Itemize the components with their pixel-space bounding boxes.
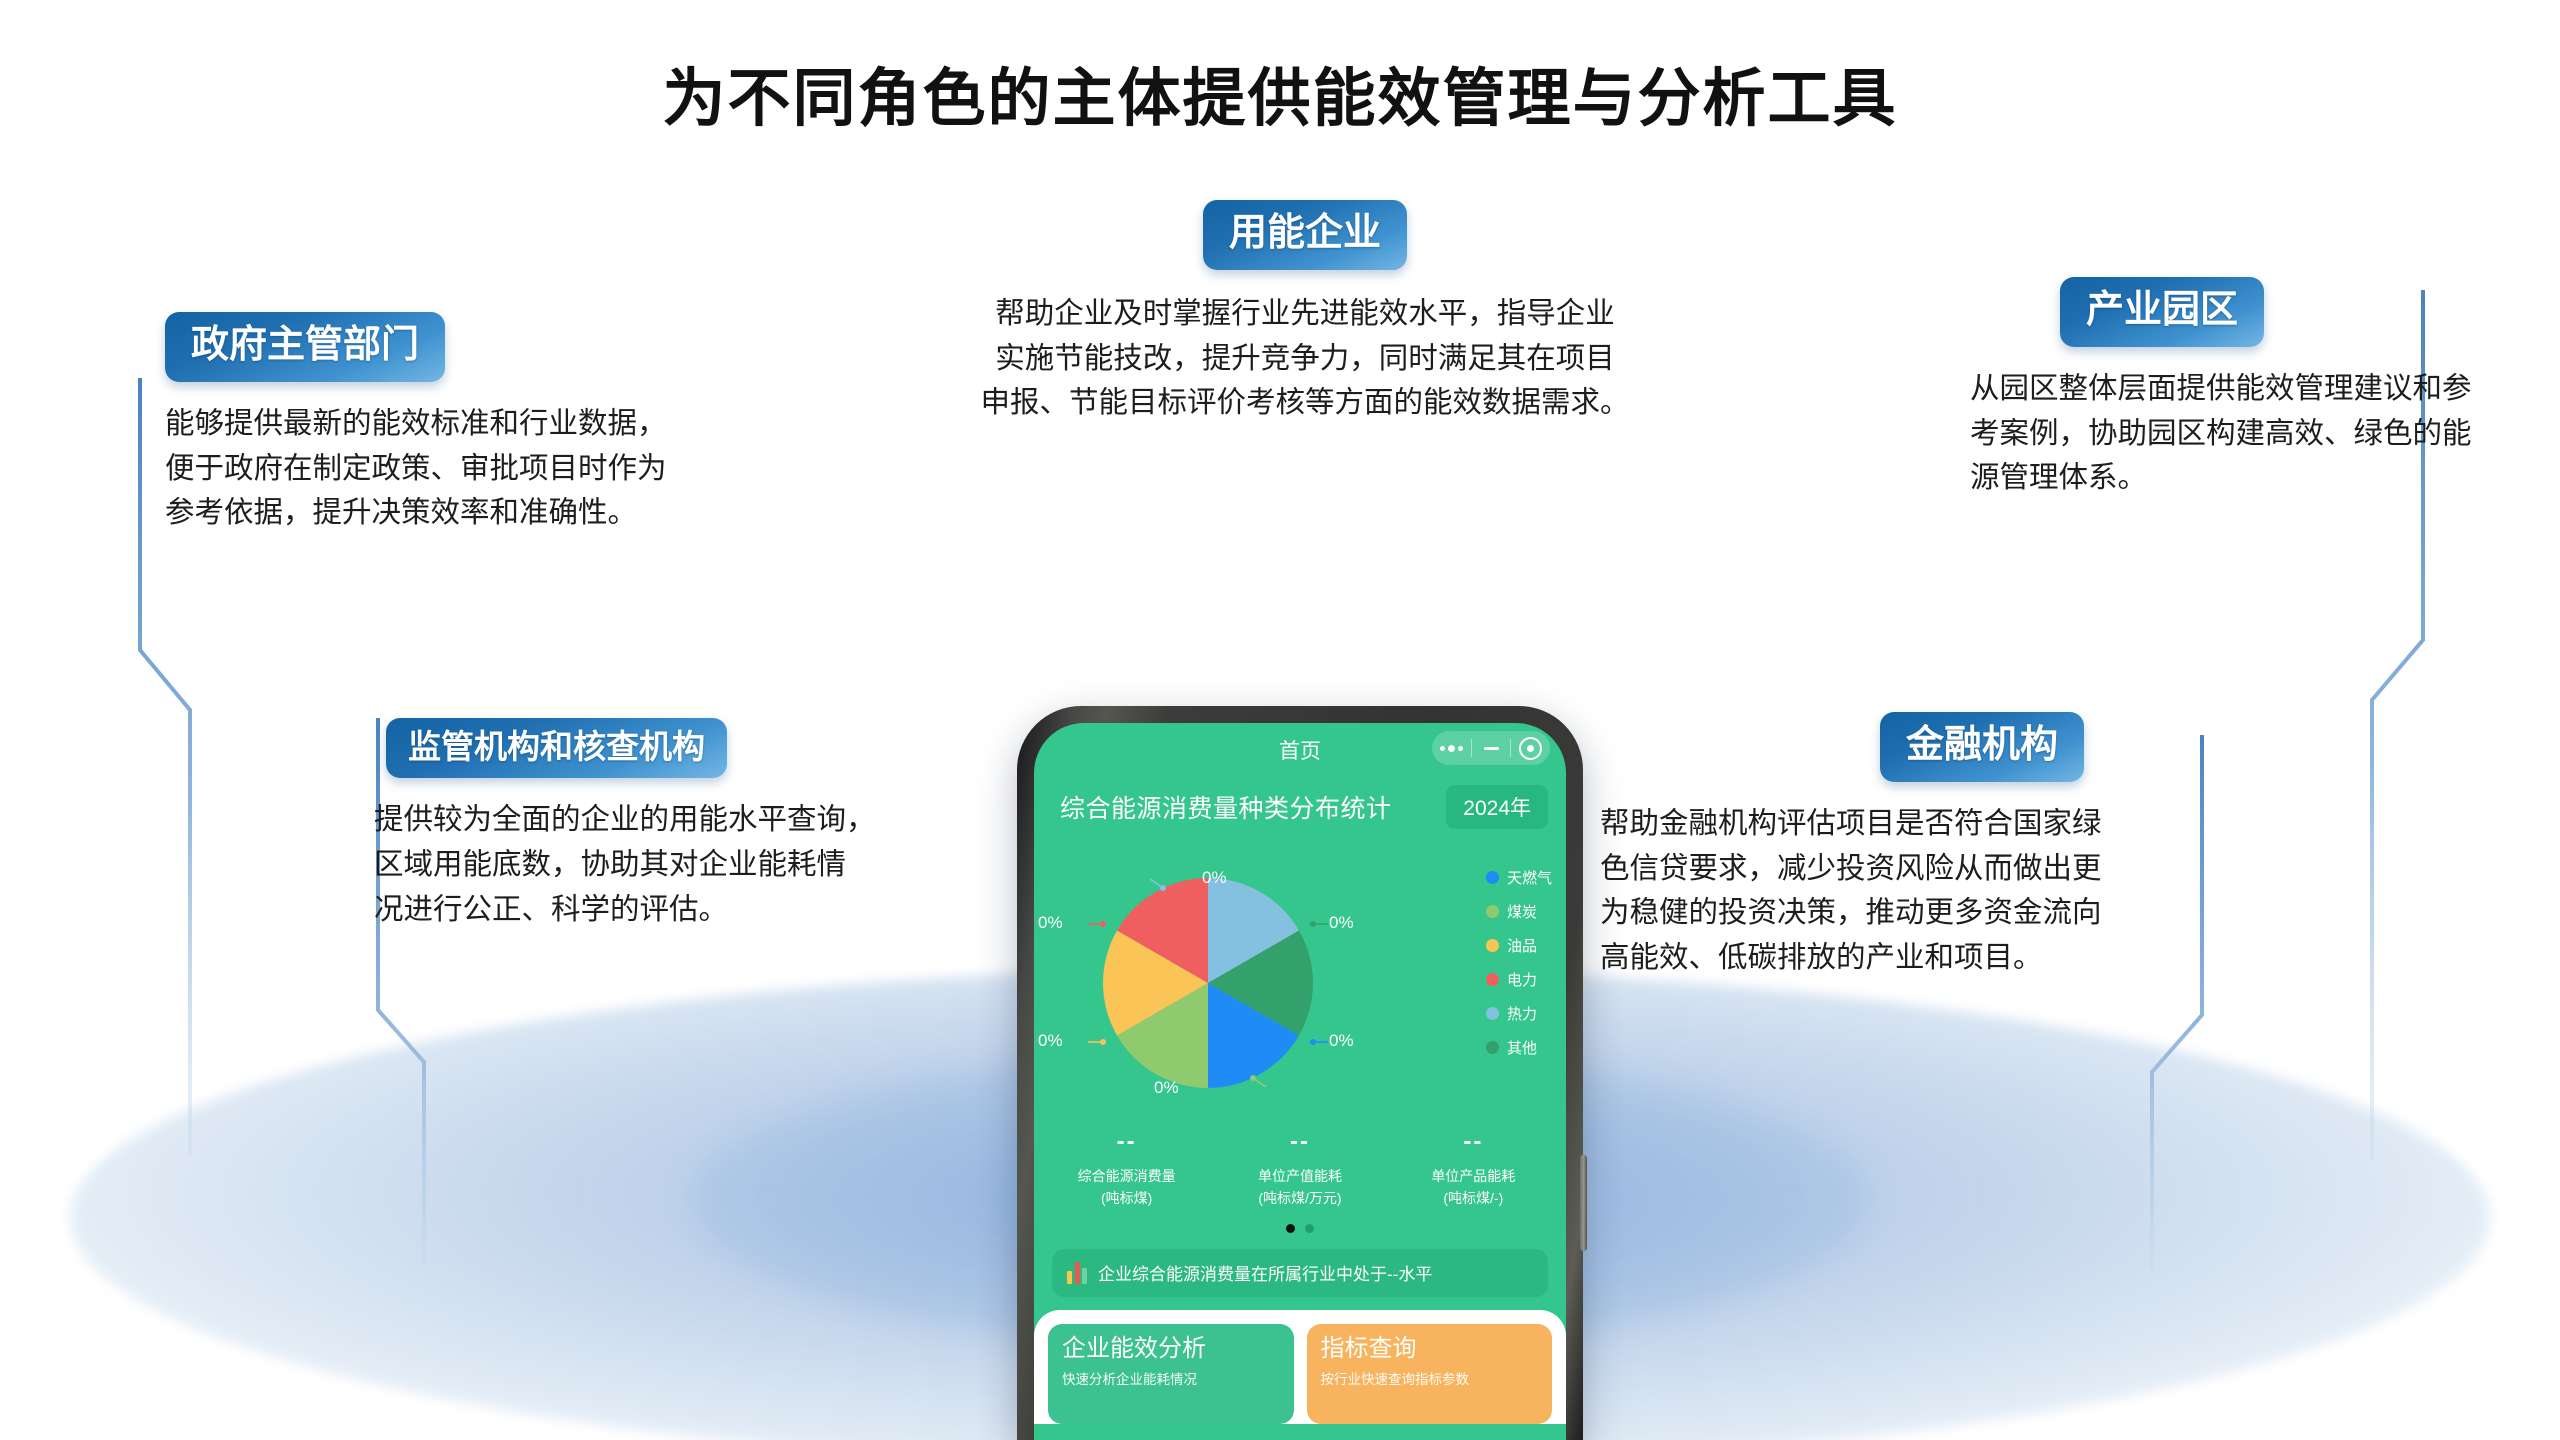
role-badge-finance[interactable]: 金融机构 bbox=[1880, 712, 2084, 782]
stat-label-unit: (吨标煤/万元) bbox=[1258, 1190, 1341, 1206]
stat-value: -- bbox=[1213, 1129, 1386, 1155]
bar-chart-icon bbox=[1067, 1262, 1087, 1284]
pager-dot[interactable] bbox=[1305, 1224, 1314, 1233]
pie-chart-section: 0% 0% 0% 0% 0% 0% 天燃气 煤炭 bbox=[1034, 833, 1566, 1123]
legend-item[interactable]: 煤炭 bbox=[1486, 901, 1552, 922]
industry-level-text: 企业综合能源消费量在所属行业中处于--水平 bbox=[1098, 1260, 1432, 1285]
pager-dot-active[interactable] bbox=[1286, 1224, 1295, 1233]
role-block-enterprise: 用能企业 帮助企业及时掌握行业先进能效水平，指导企业 实施节能技改，提升竞争力，… bbox=[910, 200, 1700, 426]
pie-label-meitan: 0% bbox=[1154, 1078, 1179, 1098]
stats-row: -- 综合能源消费量 (吨标煤) -- 单位产值能耗 (吨标煤/万元) -- bbox=[1034, 1123, 1566, 1210]
legend-label: 油品 bbox=[1507, 935, 1537, 956]
legend-color-dot bbox=[1486, 1041, 1499, 1054]
role-block-finance: 金融机构 帮助金融机构评估项目是否符合国家绿 色信贷要求，减少投资风险从而做出更… bbox=[1600, 712, 2260, 981]
phone-mockup: 首页 综合能源消费量种类分布统计 bbox=[1017, 706, 1583, 1440]
carousel-pager[interactable] bbox=[1034, 1224, 1566, 1233]
quick-card-title: 企业能效分析 bbox=[1062, 1335, 1280, 1363]
legend-label: 天燃气 bbox=[1507, 867, 1552, 888]
role-badge-government[interactable]: 政府主管部门 bbox=[165, 312, 445, 382]
legend-label: 热力 bbox=[1507, 1003, 1537, 1024]
role-desc-regulator: 提供较为全面的企业的用能水平查询， 区域用能底数，协助其对企业能耗情 况进行公正… bbox=[374, 798, 1026, 932]
stat-label-unit: (吨标煤) bbox=[1101, 1190, 1152, 1206]
stat-value: -- bbox=[1387, 1129, 1560, 1155]
pie-label-qita: 0% bbox=[1329, 913, 1354, 933]
legend-color-dot bbox=[1486, 939, 1499, 952]
quick-card-indicator-query[interactable]: 指标查询 按行业快速查询指标参数 bbox=[1307, 1324, 1553, 1424]
stat-label-text: 单位产品能耗 bbox=[1431, 1168, 1515, 1184]
legend-label: 电力 bbox=[1507, 969, 1537, 990]
legend-color-dot bbox=[1486, 871, 1499, 884]
stat-label: 单位产值能耗 (吨标煤/万元) bbox=[1213, 1166, 1386, 1209]
pie-label-youpin: 0% bbox=[1038, 1031, 1063, 1051]
minimize-dash-icon[interactable] bbox=[1472, 731, 1511, 765]
stat-value: -- bbox=[1040, 1129, 1213, 1155]
role-block-park: 产业园区 从园区整体层面提供能效管理建议和参 考案例，协助园区构建高效、绿色的能… bbox=[2020, 277, 2560, 501]
legend-color-dot bbox=[1486, 905, 1499, 918]
stat-item-product-energy: -- 单位产品能耗 (吨标煤/-) bbox=[1387, 1129, 1560, 1210]
chart-title: 综合能源消费量种类分布统计 bbox=[1060, 789, 1392, 825]
quick-card-subtitle: 按行业快速查询指标参数 bbox=[1321, 1368, 1539, 1388]
role-desc-finance: 帮助金融机构评估项目是否符合国家绿 色信贷要求，减少投资风险从而做出更 为稳健的… bbox=[1600, 802, 2260, 981]
legend-item[interactable]: 热力 bbox=[1486, 1003, 1552, 1024]
quick-card-subtitle: 快速分析企业能耗情况 bbox=[1062, 1368, 1280, 1388]
quick-actions-sheet: 企业能效分析 快速分析企业能耗情况 指标查询 按行业快速查询指标参数 bbox=[1034, 1310, 1566, 1424]
role-badge-enterprise[interactable]: 用能企业 bbox=[1203, 200, 1407, 270]
stat-item-total-energy: -- 综合能源消费量 (吨标煤) bbox=[1040, 1129, 1213, 1210]
legend-item[interactable]: 油品 bbox=[1486, 935, 1552, 956]
pie-label-dianli: 0% bbox=[1038, 913, 1063, 933]
more-dots-icon[interactable] bbox=[1432, 731, 1471, 765]
legend-item[interactable]: 电力 bbox=[1486, 969, 1552, 990]
chart-header: 综合能源消费量种类分布统计 2024年 bbox=[1034, 773, 1566, 829]
stat-item-output-energy: -- 单位产值能耗 (吨标煤/万元) bbox=[1213, 1129, 1386, 1210]
role-desc-government: 能够提供最新的能效标准和行业数据， 便于政府在制定政策、审批项目时作为 参考依据… bbox=[165, 402, 765, 536]
infographic-stage: 为不同角色的主体提供能效管理与分析工具 政府主管部门 能够提供最新的能效标准和行… bbox=[0, 0, 2560, 1440]
quick-card-title: 指标查询 bbox=[1321, 1335, 1539, 1363]
stat-label-text: 综合能源消费量 bbox=[1078, 1168, 1176, 1184]
app-nav-bar: 首页 bbox=[1034, 723, 1566, 773]
target-circle-icon[interactable] bbox=[1511, 731, 1550, 765]
phone-side-button[interactable] bbox=[1580, 1155, 1587, 1251]
pie-legend: 天燃气 煤炭 油品 电力 bbox=[1486, 867, 1552, 1058]
role-block-government: 政府主管部门 能够提供最新的能效标准和行业数据， 便于政府在制定政策、审批项目时… bbox=[165, 312, 765, 536]
role-badge-park[interactable]: 产业园区 bbox=[2060, 277, 2264, 347]
pie-label-tianranqi: 0% bbox=[1329, 1031, 1354, 1051]
role-desc-park: 从园区整体层面提供能效管理建议和参 考案例，协助园区构建高效、绿色的能 源管理体… bbox=[1970, 367, 2560, 501]
stat-label-text: 单位产值能耗 bbox=[1258, 1168, 1342, 1184]
stat-label: 综合能源消费量 (吨标煤) bbox=[1040, 1166, 1213, 1209]
pie-label-reli: 0% bbox=[1202, 868, 1227, 888]
role-desc-enterprise: 帮助企业及时掌握行业先进能效水平，指导企业 实施节能技改，提升竞争力，同时满足其… bbox=[910, 292, 1700, 426]
year-selector[interactable]: 2024年 bbox=[1446, 785, 1548, 829]
legend-color-dot bbox=[1486, 973, 1499, 986]
stat-label-unit: (吨标煤/-) bbox=[1443, 1190, 1503, 1206]
legend-color-dot bbox=[1486, 1007, 1499, 1020]
page-title: 为不同角色的主体提供能效管理与分析工具 bbox=[0, 48, 2560, 139]
role-badge-regulator[interactable]: 监管机构和核查机构 bbox=[386, 718, 727, 778]
legend-item[interactable]: 天燃气 bbox=[1486, 867, 1552, 888]
role-block-regulator: 监管机构和核查机构 提供较为全面的企业的用能水平查询， 区域用能底数，协助其对企… bbox=[386, 718, 1026, 932]
industry-level-banner[interactable]: 企业综合能源消费量在所属行业中处于--水平 bbox=[1052, 1249, 1548, 1297]
legend-label: 其他 bbox=[1507, 1037, 1537, 1058]
legend-item[interactable]: 其他 bbox=[1486, 1037, 1552, 1058]
phone-screen: 首页 综合能源消费量种类分布统计 bbox=[1034, 723, 1566, 1440]
miniprogram-capsule bbox=[1432, 731, 1550, 765]
quick-card-energy-analysis[interactable]: 企业能效分析 快速分析企业能耗情况 bbox=[1048, 1324, 1294, 1424]
stat-label: 单位产品能耗 (吨标煤/-) bbox=[1387, 1166, 1560, 1209]
legend-label: 煤炭 bbox=[1507, 901, 1537, 922]
